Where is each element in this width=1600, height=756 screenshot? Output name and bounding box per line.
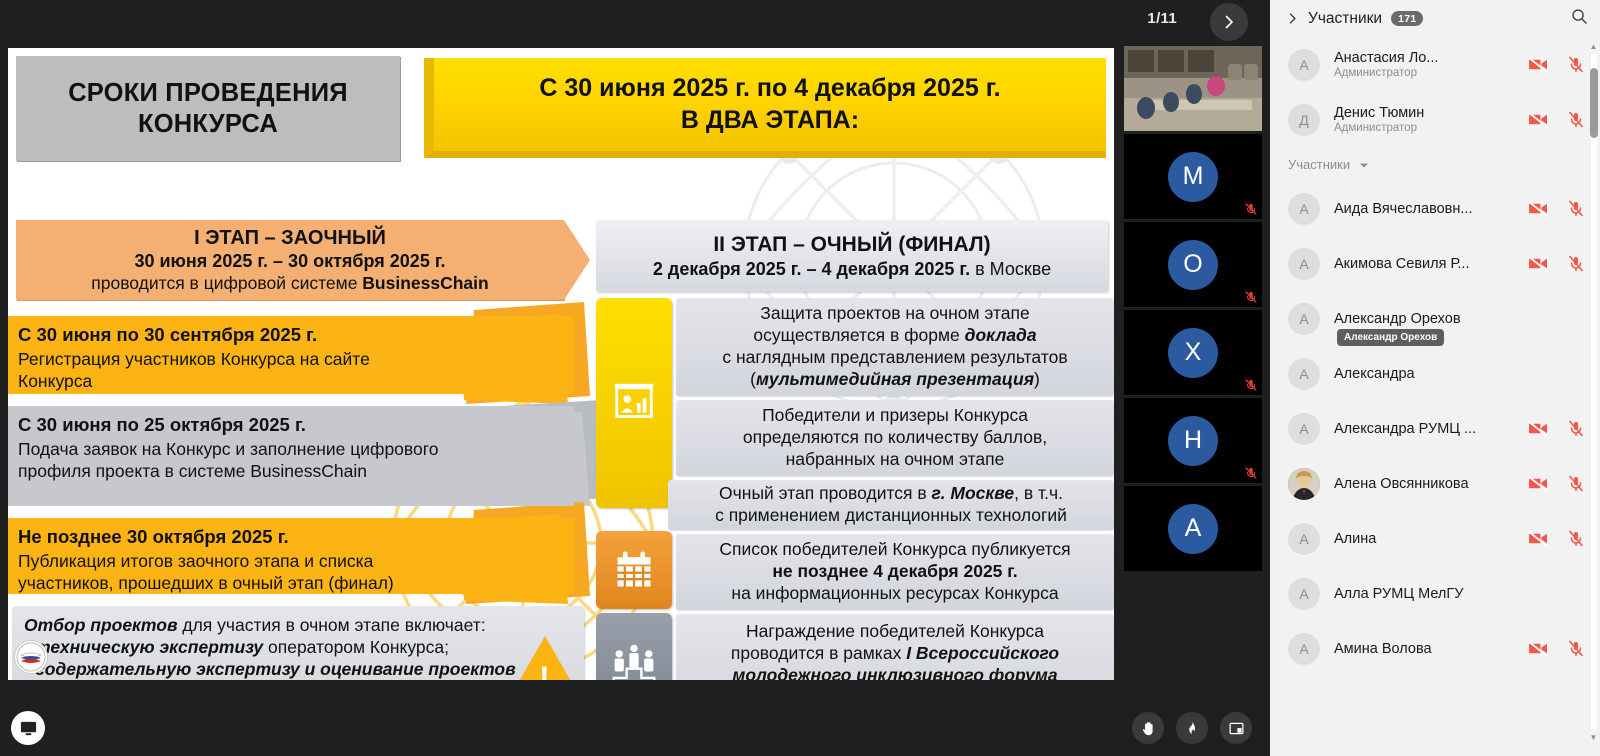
scrollbar-thumb[interactable] [1590,68,1598,138]
chevron-right-icon [1286,12,1299,25]
participant-name: Аида Вячеславовн... [1334,201,1519,217]
calendar-icon [612,548,656,592]
row5-line1: Награждение победителей Конкурса [746,621,1044,641]
next-slide-button[interactable] [1210,3,1248,41]
avatar: Д [1288,104,1320,136]
video-tile-room[interactable] [1124,46,1262,131]
section-label: Участники [1288,157,1350,172]
slide-title-block: СРОКИ ПРОВЕДЕНИЯ КОНКУРСА [16,56,400,161]
collapse-panel-button[interactable] [1282,12,1302,25]
mic-off-icon [1244,202,1258,216]
list-item[interactable]: А Александра [1270,346,1600,401]
meeting-top-bar: 1/11 [0,0,1270,44]
avatar: А [1288,578,1320,610]
mic-off-icon[interactable] [1568,111,1584,129]
avatar [1288,468,1320,500]
camera-off-icon[interactable] [1528,530,1549,547]
video-thumbnail-strip: M O X [1124,46,1262,574]
list-item[interactable]: А Алла РУМЦ МелГУ [1270,566,1600,621]
stage1-step-3: Не позднее 30 октября 2025 г. Публикация… [8,518,574,594]
participant-role: Администратор [1334,67,1528,79]
video-tile-m[interactable]: M [1124,134,1262,219]
stage1-heading: I ЭТАП – ЗАОЧНЫЙ [194,227,386,250]
mic-off-icon [1244,466,1258,480]
participant-name: Алена Овсянникова [1334,476,1519,492]
step2-body: Подача заявок на Конкурс и заполнение ци… [18,438,473,482]
avatar: O [1168,240,1218,290]
participant-tooltip: Александр Орехов [1337,329,1444,346]
row1-line2-em: доклада [965,325,1037,345]
banner-line-2: В ДВА ЭТАПА: [681,106,859,134]
row3-line1-pre: Очный этап проводится в [719,483,932,503]
slide-title: СРОКИ ПРОВЕДЕНИЯ КОНКУРСА [16,78,400,138]
avatar: А [1288,523,1320,555]
row4-line3: на информационных ресурсах Конкурса [731,583,1058,603]
camera-off-icon[interactable] [1528,420,1549,437]
participant-name: Александра РУМЦ ... [1334,421,1519,437]
list-item[interactable]: Алена Овсянникова [1270,456,1600,511]
participant-role: Администратор [1334,122,1528,134]
video-tile-a[interactable]: A [1124,486,1262,571]
avatar: А [1288,358,1320,390]
row1-line4-em: мультимедийная презентация [756,369,1034,389]
row2-line3: набранных на очном этапе [786,449,1005,469]
stage1-step-2: С 30 июня по 25 октября 2025 г. Подача з… [8,406,574,506]
row4-line2-em: не позднее 4 декабря 2025 г. [772,561,1017,581]
avatar: X [1168,328,1218,378]
participant-name: Алла РУМЦ МелГУ [1334,586,1519,602]
scroll-down-arrow[interactable]: ▼ [1589,733,1598,742]
participants-count-badge: 171 [1391,11,1423,26]
mic-off-icon [1244,378,1258,392]
row3-line1-post: , в т.ч. [1014,483,1063,503]
mic-off-icon[interactable] [1568,530,1584,548]
camera-off-icon[interactable] [1528,475,1549,492]
list-item[interactable]: А Амина Волова [1270,621,1600,676]
row2-line2: определяются по количеству баллов, [743,427,1047,447]
screen-share-button[interactable] [11,711,45,745]
camera-off-icon[interactable] [1528,640,1549,657]
stage1-header: I ЭТАП – ЗАОЧНЫЙ 30 июня 2025 г. – 30 ок… [16,220,564,300]
mic-off-icon[interactable] [1568,475,1584,493]
panel-title: Участники [1308,10,1382,28]
row5-line2-em: I Всероссийского [906,643,1059,663]
row1-line4-post: ) [1034,369,1040,389]
presentation-chart-icon [611,380,657,426]
row5-line3-em: молодежного инклюзивного форума [732,665,1057,680]
chevron-right-icon [1221,14,1237,30]
list-item[interactable]: А Акимова Севиля Р... [1270,236,1600,291]
video-tile-h[interactable]: H [1124,398,1262,483]
banner-line-1: С 30 июня 2025 г. по 4 декабря 2025 г. [539,74,1000,102]
stage1-step-1: С 30 июня по 30 сентября 2025 г. Регистр… [8,316,574,394]
camera-off-icon[interactable] [1528,200,1549,217]
list-item[interactable]: А Аида Вячеславовн... [1270,181,1600,236]
stage2-row-3: Очный этап проводится в г. Москве, в т.ч… [668,480,1114,530]
participant-name: Акимова Севиля Р... [1334,256,1519,272]
list-item[interactable]: А Александра РУМЦ ... [1270,401,1600,456]
step1-body: Регистрация участников Конкурса на сайте… [18,348,418,392]
participant-name: Александра [1334,366,1519,382]
avatar: А [1288,49,1320,81]
step1-date: С 30 июня по 30 сентября 2025 г. [18,323,562,347]
stage2-dates-rest: в Москве [970,259,1051,279]
mic-off-icon[interactable] [1568,255,1584,273]
search-icon [1571,8,1588,25]
chevron-down-icon [1359,157,1369,172]
slide-date-banner: С 30 июня 2025 г. по 4 декабря 2025 г. В… [424,58,1106,158]
row3-line1-em: г. Москве [932,483,1015,503]
avatar-photo [1288,468,1320,500]
participants-panel: Участники 171 А Анастасия Ло... Админист… [1270,0,1600,756]
video-tile-x[interactable]: X [1124,310,1262,395]
avatar: H [1168,416,1218,466]
mic-off-icon[interactable] [1568,200,1584,218]
camera-off-icon[interactable] [1528,111,1549,128]
list-item[interactable]: А Анастасия Ло... Администратор [1270,37,1600,92]
selection-b1-em: техническую экспертизу [35,637,263,657]
organization-emblem [14,640,48,674]
list-item[interactable]: А Алина [1270,511,1600,566]
mic-off-icon[interactable] [1568,420,1584,438]
stage2-icon-podium [596,613,672,680]
hand-icon [1140,720,1157,737]
participant-name: Амина Волова [1334,641,1519,657]
stage2-row-2: Победители и призеры Конкурса определяют… [676,400,1114,476]
camera-off-icon[interactable] [1528,255,1549,272]
stage1-selection-block: Отбор проектов для участия в очном этапе… [12,606,584,680]
layout-button[interactable] [1220,712,1252,744]
participants-section-header[interactable]: Участники [1270,147,1600,181]
panel-scrollbar[interactable]: ▲ ▼ [1589,42,1598,742]
selection-lead-rest: для участия в очном этапе включает: [178,615,486,635]
stage2-header: II ЭТАП – ОЧНЫЙ (ФИНАЛ) 2 декабря 2025 г… [596,220,1108,292]
list-item[interactable]: А Александр Орехов Александр Орехов [1270,291,1600,346]
participant-name: Денис Тюмин [1334,105,1519,121]
row5-line2-pre: проводится в рамках [731,643,906,663]
row1-line1: Защита проектов на очном этапе [760,303,1029,323]
row1-line3: с наглядным представлением результатов [722,347,1067,367]
row4-line1: Список победителей Конкурса публикуется [719,539,1070,559]
stage2-dates-bold: 2 декабря 2025 г. – 4 декабря 2025 г. [653,259,970,279]
scrollbar-track [1591,54,1597,730]
meeting-area: 1/11 [0,0,1270,756]
stage2-heading: II ЭТАП – ОЧНЫЙ (ФИНАЛ) [713,233,990,257]
step2-date: С 30 июня по 25 октября 2025 г. [18,413,562,437]
step3-date: Не позднее 30 октября 2025 г. [18,525,562,549]
participant-name: Александр Орехов [1334,311,1519,327]
avatar: M [1168,152,1218,202]
stage2-row-5: Награждение победителей Конкурса проводи… [676,614,1114,680]
row3-line3: с применением дистанционных технологий [715,505,1067,525]
avatar: А [1288,248,1320,280]
selection-b1-rest: оператором Конкурса; [263,637,449,657]
meeting-controls [1132,712,1252,744]
selection-lead-em: Отбор проектов [24,615,178,635]
stage1-system-name: BusinessChain [362,273,488,293]
stage1-system-prefix: проводится в цифровой системе [91,273,362,293]
room-video-preview [1124,46,1262,131]
reactions-button[interactable] [1176,712,1208,744]
participant-name: Алина [1334,531,1519,547]
avatar: А [1288,303,1320,335]
row2-line1: Победители и призеры Конкурса [762,405,1028,425]
emblem-icon [16,642,46,672]
scroll-up-arrow[interactable]: ▲ [1589,42,1598,51]
participants-list[interactable]: А Анастасия Ло... Администратор [1270,37,1600,756]
stage2-icon-presentation [596,298,672,508]
stage2-icon-calendar [596,531,672,609]
podium-people-icon [610,641,658,681]
stage2-row-4: Список победителей Конкурса публикуется … [676,534,1114,610]
stage1-dates: 30 июня 2025 г. – 30 октября 2025 г. [134,251,445,272]
participant-name: Анастасия Ло... [1334,50,1519,66]
slide-counter: 1/11 [1147,10,1177,27]
mic-off-icon[interactable] [1568,56,1584,74]
row1-line2-pre: осуществляется в форме [753,325,964,345]
avatar: A [1168,504,1218,554]
screen-share-icon [19,719,38,738]
camera-off-icon[interactable] [1528,56,1549,73]
list-item[interactable]: Д Денис Тюмин Администратор [1270,92,1600,147]
video-tile-o[interactable]: O [1124,222,1262,307]
step3-body: Публикация итогов заочного этапа и списк… [18,550,468,594]
flame-icon [1184,720,1200,736]
avatar: А [1288,193,1320,225]
search-button[interactable] [1571,8,1588,30]
layout-icon [1228,720,1245,737]
stage2-row-1: Защита проектов на очном этапе осуществл… [676,298,1114,396]
raise-hand-button[interactable] [1132,712,1164,744]
warning-exclamation: ! [539,662,550,680]
avatar: А [1288,633,1320,665]
mic-off-icon[interactable] [1568,640,1584,658]
participants-header: Участники 171 [1270,0,1600,37]
selection-b2-em: содержательную экспертизу и оценивание п… [35,659,516,679]
mic-off-icon [1244,290,1258,304]
avatar: А [1288,413,1320,445]
shared-slide[interactable]: СРОКИ ПРОВЕДЕНИЯ КОНКУРСА С 30 июня 2025… [8,48,1114,680]
